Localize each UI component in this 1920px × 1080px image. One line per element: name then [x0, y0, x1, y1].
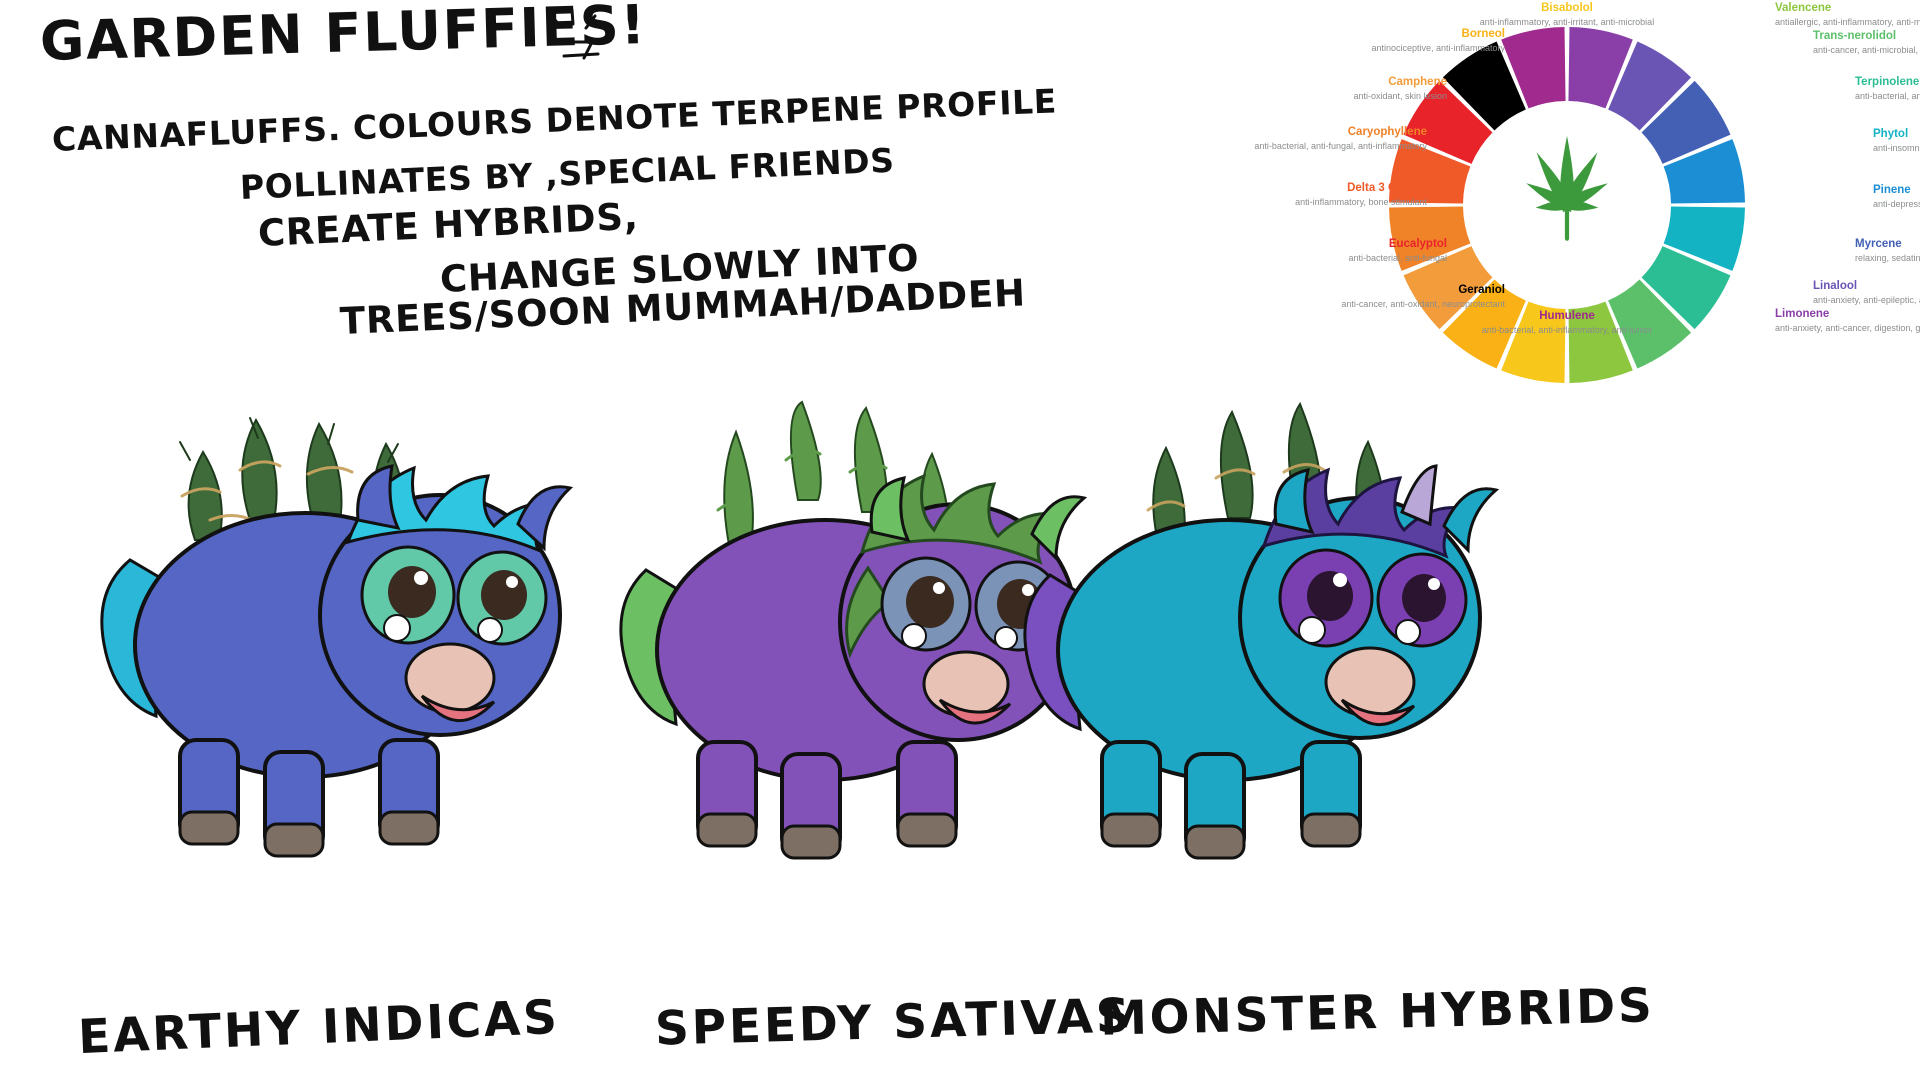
terpene-desc-linalool: anti-anxiety, anti-epileptic, anti-psych… — [1813, 295, 1920, 305]
terpene-name-pinene: Pinene — [1873, 184, 1911, 196]
terpene-desc-bisabolol: anti-inflammatory, anti-irritant, anti-m… — [1480, 17, 1654, 27]
terpene-name-delta-3-carene: Delta 3 Carene — [1347, 182, 1427, 194]
terpene-name-eucalyptol: Eucalyptol — [1389, 238, 1447, 250]
horn — [1402, 466, 1436, 524]
terpene-desc-caryophyllene: anti-bacterial, anti-fungal, anti-inflam… — [1254, 141, 1427, 151]
terpene-wheel-panel: Bisabololanti-inflammatory, anti-irritan… — [1215, 0, 1920, 420]
terpene-desc-eucalyptol: anti-bacterial, anti-fungal — [1348, 253, 1447, 263]
terpene-name-trans-nerolidol: Trans-nerolidol — [1813, 30, 1896, 42]
terpene-desc-valencene: antiallergic, anti-inflammatory, anti-me… — [1775, 17, 1920, 27]
terpene-name-phytol: Phytol — [1873, 128, 1908, 140]
fluffy-monster-hybrid — [1010, 400, 1610, 960]
terpene-desc-limonene: anti-anxiety, anti-cancer, digestion, ga… — [1775, 323, 1920, 333]
terpene-name-linalool: Linalool — [1813, 280, 1857, 292]
terpene-wheel-chart — [1215, 0, 1920, 420]
terpene-desc-phytol: anti-insomnia, immunosuppressant — [1873, 143, 1920, 153]
muzzle — [924, 652, 1008, 716]
terpene-desc-geraniol: anti-cancer, anti-oxidant, neuroprotecta… — [1341, 299, 1505, 309]
terpene-name-myrcene: Myrcene — [1855, 238, 1902, 250]
terpene-desc-myrcene: relaxing, sedating — [1855, 253, 1920, 263]
terpene-desc-terpinolene: anti-bacterial, anti-fungal, anti-insomn… — [1855, 91, 1920, 101]
terpene-desc-camphene: anti-oxidant, skin lesion — [1353, 91, 1447, 101]
caption-monster-hybrids: MONSTER HYBRIDS — [1099, 978, 1655, 1047]
terpene-name-borneol: Borneol — [1462, 28, 1505, 40]
muzzle — [406, 644, 494, 712]
terpene-name-valencene: Valencene — [1775, 2, 1831, 14]
terpene-desc-trans-nerolidol: anti-cancer, anti-microbial, anti-oxidan… — [1813, 45, 1920, 55]
terpene-name-bisabolol: Bisabolol — [1541, 2, 1593, 14]
terpene-desc-pinene: anti-depressant, anti-inflammatory, anti… — [1873, 199, 1920, 209]
muzzle — [1326, 648, 1414, 716]
terpene-desc-borneol: antinociceptive, anti-inflammatory — [1371, 43, 1505, 53]
terpene-name-terpinolene: Terpinolene — [1855, 76, 1919, 88]
terpene-name-caryophyllene: Caryophyllene — [1348, 126, 1427, 138]
terpene-desc-delta-3-carene: anti-inflammatory, bone stimulant — [1295, 197, 1427, 207]
terpene-name-humulene: Humulene — [1539, 310, 1595, 322]
terpene-name-camphene: Camphene — [1388, 76, 1447, 88]
sparkle-doodle-icon — [540, 8, 650, 88]
fluffy-earthy-indica — [90, 400, 690, 960]
terpene-name-geraniol: Geraniol — [1458, 284, 1505, 296]
caption-earthy-indicas: EARTHY INDICAS — [77, 990, 561, 1065]
terpene-name-limonene: Limonene — [1775, 308, 1829, 320]
caption-speedy-sativas: SPEEDY SATIVAS — [654, 988, 1133, 1056]
note-line-1: CANNAFLUFFS. COLOURS DENOTE TERPENE PROF… — [51, 81, 1057, 159]
terpene-desc-humulene: anti-bacterial, anti-inflammatory, anti-… — [1482, 325, 1652, 335]
